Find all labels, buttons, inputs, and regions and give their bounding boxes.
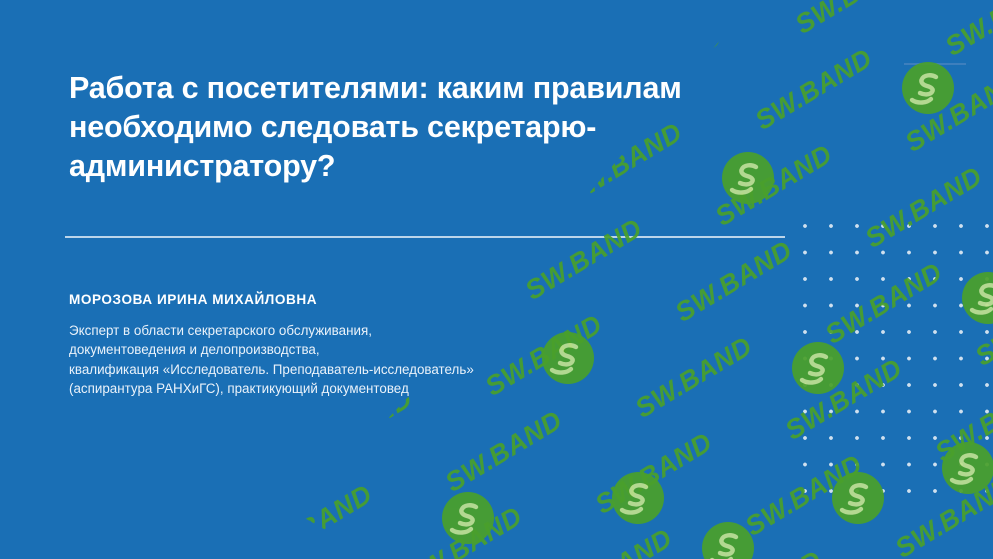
watermark-text: SW.BAND [930,375,993,469]
watermark-text: SW.BAND [820,257,948,351]
speaker-name: МОРОЗОВА ИРИНА МИХАЙЛОВНА [69,291,709,308]
decorative-dot-grid [803,224,993,496]
watermark-text: SW.BAND [550,523,678,559]
watermark-logo-icon [790,340,846,396]
watermark-text: SW.BAND [250,479,378,559]
watermark-text: SW.BAND [0,221,8,315]
watermark-text: SW.BAND [0,0,128,27]
title-block: Работа с посетителями: каким правилам не… [69,69,729,186]
watermark-text: SW.BAND [860,161,988,255]
watermark-text: SW.BAND [710,139,838,233]
watermark-logo-icon [900,60,956,116]
watermark-text: SW.BAND [790,0,918,41]
watermark-text: SW.BAND [0,125,48,219]
watermark-text: SW.BAND [60,553,188,559]
speaker-bio: Эксперт в области секретарского обслужив… [69,321,709,398]
watermark-text: SW.BAND [300,0,428,71]
watermark-text: SW.BAND [400,501,528,559]
watermark-logo-icon [610,470,666,526]
watermark-text: SW.BAND [700,545,828,559]
watermark-logo-icon [440,490,496,546]
watermark-text: SW.BAND [890,471,993,559]
title-divider [65,236,785,238]
watermark-logo-icon [940,440,993,496]
watermark-text: SW.BAND [940,0,993,63]
watermark-text: SW.BAND [740,449,868,543]
top-right-accent-rule [904,63,966,65]
speaker-block: МОРОЗОВА ИРИНА МИХАЙЛОВНА Эксперт в обла… [69,291,709,398]
watermark-logo-icon [700,520,756,559]
watermark-text: SW.BAND [150,0,278,49]
presentation-slide: Работа с посетителями: каким правилам не… [0,0,993,559]
watermark-text: SW.BAND [0,531,38,559]
watermark-text: SW.BAND [440,405,568,499]
watermark-text: SW.BAND [900,65,993,159]
watermark-text: SW.BAND [970,279,993,373]
watermark-logo-icon [830,470,886,526]
watermark-text: SW.BAND [100,457,228,551]
watermark-text: SW.BAND [780,353,908,447]
watermark-text: SW.BAND [750,43,878,137]
watermark-logo-icon [960,270,993,326]
page-title: Работа с посетителями: каким правилам не… [69,69,729,186]
watermark-text: SW.BAND [640,0,768,19]
watermark-text: SW.BAND [0,435,78,529]
watermark-text: SW.BAND [590,427,718,521]
